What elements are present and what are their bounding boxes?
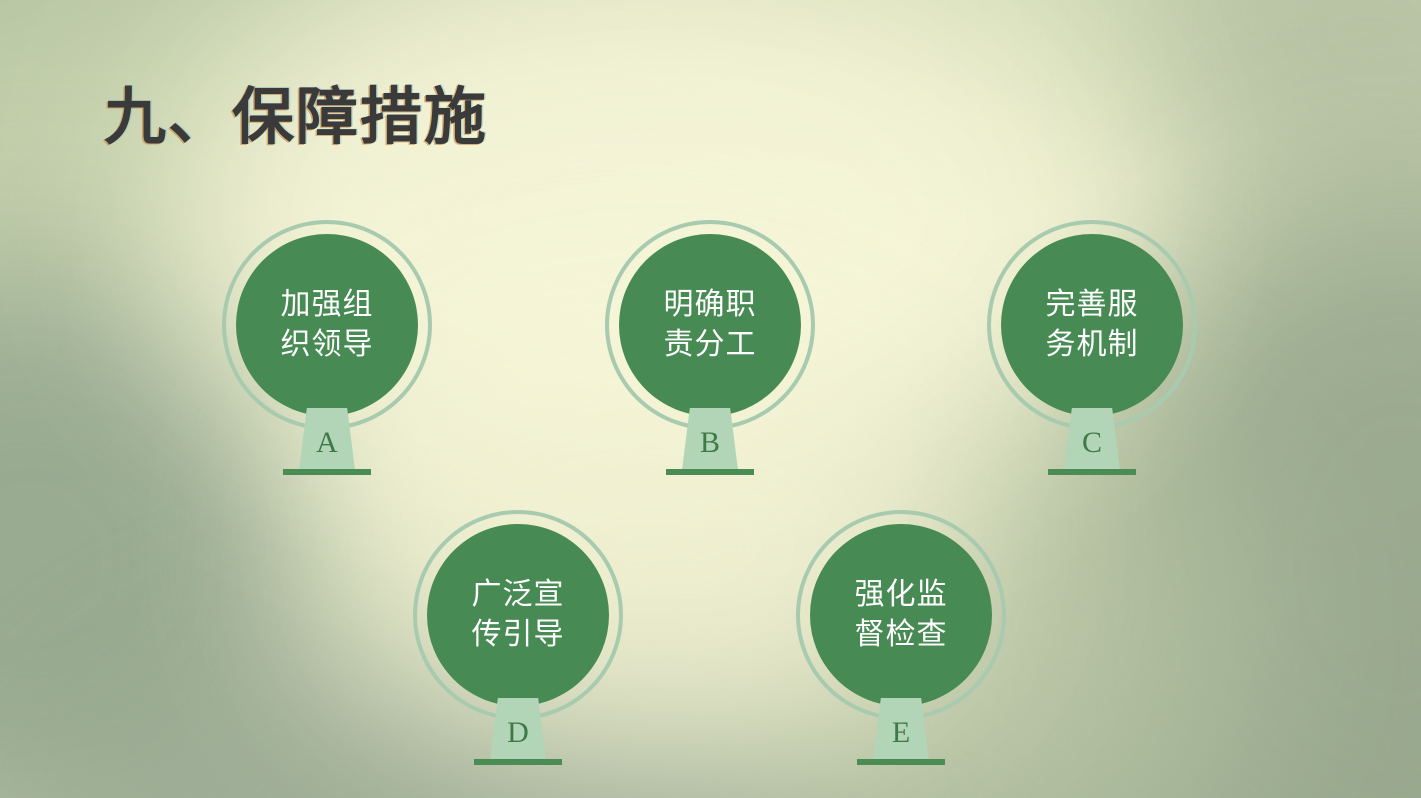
tree-node-letter: A [277,426,377,460]
page-title: 九、保障措施 [104,66,488,156]
tree-node-letter: E [851,716,951,750]
tree-node-label: 强化监督检查 [810,524,992,706]
tree-base-bar [1048,469,1136,475]
tree-base-bar [857,759,945,765]
tree-base-bar [666,469,754,475]
slide-canvas: 九、保障措施 加强组织领导A明确职责分工B完善服务机制C广泛宣传引导D强化监督检… [0,0,1421,798]
tree-node-label: 完善服务机制 [1001,234,1183,416]
tree-node-label-line2: 责分工 [664,325,757,366]
tree-node-label-line2: 务机制 [1046,325,1139,366]
tree-node-label-line2: 督检查 [855,615,948,656]
tree-node-label-line1: 明确职 [664,285,757,326]
tree-node-label-line2: 传引导 [472,615,565,656]
tree-node-label-line2: 织领导 [281,325,374,366]
tree-node-label: 明确职责分工 [619,234,801,416]
tree-node-label-line1: 广泛宣 [472,575,565,616]
tree-node-label-line1: 加强组 [281,285,374,326]
tree-node-label: 广泛宣传引导 [427,524,609,706]
tree-node-letter: C [1042,426,1142,460]
background-blob-sage-topright [1120,0,1421,250]
tree-node-letter: B [660,426,760,460]
tree-node-label-line1: 完善服 [1046,285,1139,326]
tree-base-bar [474,759,562,765]
tree-node-letter: D [468,716,568,750]
tree-node-label: 加强组织领导 [236,234,418,416]
tree-node-label-line1: 强化监 [855,575,948,616]
tree-base-bar [283,469,371,475]
